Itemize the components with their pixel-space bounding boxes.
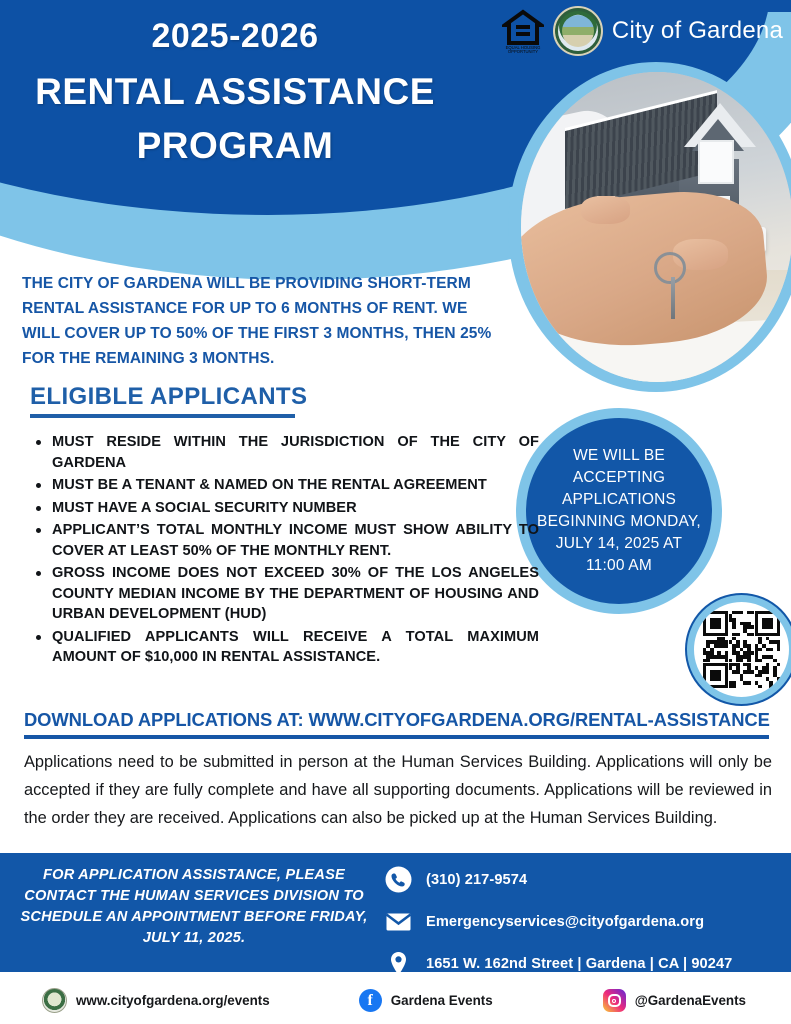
email-address: Emergencyservices@cityofgardena.org	[426, 914, 704, 930]
city-name-label: City of Gardena	[612, 17, 783, 45]
list-item: APPLICANT’S TOTAL MONTHLY INCOME MUST SH…	[52, 520, 539, 561]
social-footer: www.cityofgardena.org/events Gardena Eve…	[0, 977, 791, 1024]
list-item: MUST RESIDE WITHIN THE JURISDICTION OF T…	[52, 432, 539, 473]
eligibility-list: MUST RESIDE WITHIN THE JURISDICTION OF T…	[26, 432, 539, 670]
hand-holding-house-photo	[521, 72, 791, 382]
body-paragraph: Applications need to be submitted in per…	[24, 748, 772, 832]
footer-website[interactable]: www.cityofgardena.org/events	[42, 988, 270, 1013]
website-label: www.cityofgardena.org/events	[76, 993, 270, 1008]
contact-note: FOR APPLICATION ASSISTANCE, PLEASE CONTA…	[14, 865, 374, 949]
download-applications-link[interactable]: DOWNLOAD APPLICATIONS AT: WWW.CITYOFGARD…	[24, 709, 769, 731]
announcement-text: WE WILL BE ACCEPTING APPLICATIONS BEGINN…	[526, 445, 712, 577]
envelope-icon	[385, 908, 412, 935]
contact-phone-row[interactable]: (310) 217-9574	[385, 866, 785, 893]
location-pin-icon	[385, 950, 412, 977]
download-underline	[24, 735, 769, 739]
contact-details: (310) 217-9574 Emergencyservices@cityofg…	[385, 866, 785, 992]
intro-paragraph: THE CITY OF GARDENA WILL BE PROVIDING SH…	[22, 271, 492, 371]
instagram-label: @GardenaEvents	[635, 993, 746, 1008]
list-item: MUST HAVE A SOCIAL SECURITY NUMBER	[52, 498, 539, 519]
city-seal-small-icon	[42, 988, 67, 1013]
svg-text:OPPORTUNITY: OPPORTUNITY	[508, 49, 538, 53]
phone-number: (310) 217-9574	[426, 872, 527, 888]
phone-icon	[385, 866, 412, 893]
city-of-gardena-seal-icon	[553, 6, 603, 56]
list-item: MUST BE A TENANT & NAMED ON THE RENTAL A…	[52, 475, 539, 496]
facebook-icon	[359, 989, 382, 1012]
eligible-applicants-heading: ELIGIBLE APPLICANTS	[30, 383, 307, 411]
equal-housing-opportunity-icon: EQUAL HOUSING OPPORTUNITY	[502, 9, 544, 53]
footer-instagram[interactable]: @GardenaEvents	[603, 989, 746, 1012]
eligible-applicants-underline	[30, 414, 295, 418]
facebook-label: Gardena Events	[391, 993, 493, 1008]
contact-email-row[interactable]: Emergencyservices@cityofgardena.org	[385, 908, 785, 935]
header-title-block: 2025-2026 RENTAL ASSISTANCE PROGRAM	[0, 14, 470, 172]
program-title-line1: RENTAL ASSISTANCE	[0, 64, 470, 120]
list-item: QUALIFIED APPLICANTS WILL RECEIVE A TOTA…	[52, 627, 539, 668]
list-item: GROSS INCOME DOES NOT EXCEED 30% OF THE …	[52, 563, 539, 625]
street-address: 1651 W. 162nd Street | Gardena | CA | 90…	[426, 956, 732, 972]
footer-facebook[interactable]: Gardena Events	[359, 989, 493, 1012]
announcement-circle: WE WILL BE ACCEPTING APPLICATIONS BEGINN…	[526, 418, 712, 604]
header-logos: EQUAL HOUSING OPPORTUNITY City of Garden…	[502, 6, 783, 56]
program-year: 2025-2026	[0, 14, 470, 58]
contact-address-row[interactable]: 1651 W. 162nd Street | Gardena | CA | 90…	[385, 950, 785, 977]
flyer-page: 2025-2026 RENTAL ASSISTANCE PROGRAM EQUA…	[0, 0, 791, 1024]
qr-code[interactable]	[687, 595, 791, 704]
instagram-icon	[603, 989, 626, 1012]
program-title-line2: PROGRAM	[0, 120, 470, 172]
